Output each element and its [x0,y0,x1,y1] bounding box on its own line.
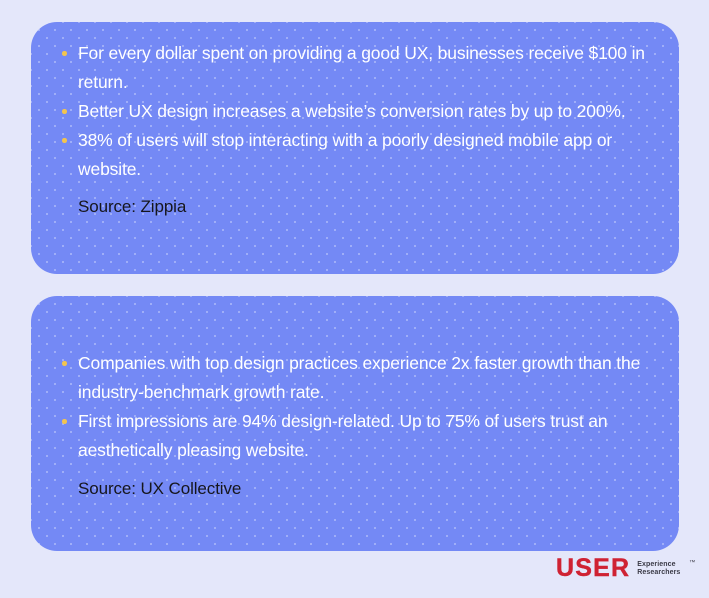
bullet-list: For every dollar spent on providing a go… [62,39,651,184]
logo-tagline-line-1: Experience [637,561,680,570]
stats-card-ux-collective: Companies with top design practices expe… [31,296,679,551]
slide-canvas: For every dollar spent on providing a go… [0,0,709,598]
list-item: First impressions are 94% design-related… [62,407,651,465]
list-item-text: 38% of users will stop interacting with … [78,130,612,179]
list-item: 38% of users will stop interacting with … [62,126,651,184]
logo-tagline-line-2: Researchers [637,569,680,578]
stats-card-zippia: For every dollar spent on providing a go… [31,22,679,274]
list-item-text: For every dollar spent on providing a go… [78,43,645,92]
bullet-dot-icon [62,361,67,366]
card-content: Companies with top design practices expe… [62,349,651,503]
logo-wordmark: USER [556,556,630,581]
list-item: Companies with top design practices expe… [62,349,651,407]
bullet-dot-icon [62,138,67,143]
card-content: For every dollar spent on providing a go… [62,39,651,221]
bullet-list: Companies with top design practices expe… [62,349,651,465]
list-item: Better UX design increases a website’s c… [62,97,651,126]
bullet-dot-icon [62,51,67,56]
list-item-text: Better UX design increases a website’s c… [78,101,626,121]
list-item-text: Companies with top design practices expe… [78,353,640,402]
bullet-dot-icon [62,109,67,114]
logo-tagline: Experience Researchers ™ [637,561,680,578]
bullet-dot-icon [62,419,67,424]
list-item: For every dollar spent on providing a go… [62,39,651,97]
brand-logo: USER Experience Researchers ™ [556,555,680,581]
trademark-icon: ™ [689,560,695,566]
source-attribution: Source: Zippia [62,192,651,221]
source-attribution: Source: UX Collective [62,474,651,503]
list-item-text: First impressions are 94% design-related… [78,411,607,460]
